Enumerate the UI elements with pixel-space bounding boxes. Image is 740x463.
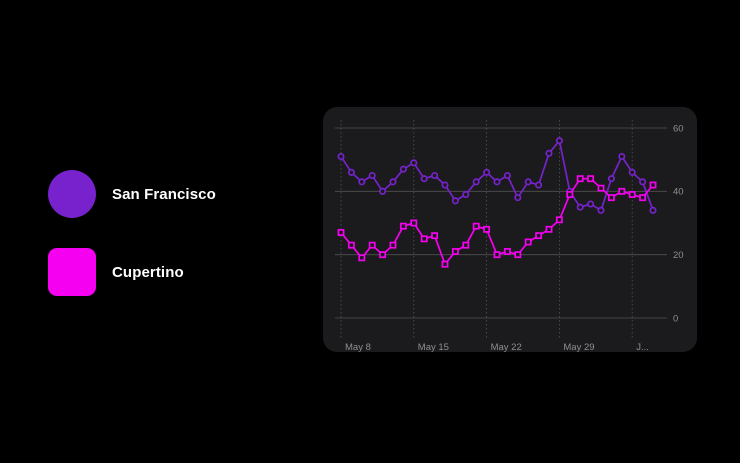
data-point[interactable] [546, 151, 551, 156]
x-axis-tick-label: May 15 [418, 342, 449, 352]
data-point[interactable] [442, 182, 447, 187]
x-axis-tick-label: J... [636, 342, 649, 352]
data-point[interactable] [432, 233, 437, 238]
data-point[interactable] [619, 189, 624, 194]
data-point[interactable] [453, 249, 458, 254]
data-point[interactable] [505, 173, 510, 178]
data-point[interactable] [432, 173, 437, 178]
data-point[interactable] [370, 243, 375, 248]
data-point[interactable] [422, 176, 427, 181]
horizontal-gridlines [335, 128, 667, 318]
series-layer [338, 138, 655, 267]
data-point[interactable] [557, 138, 562, 143]
chart-legend: San Francisco Cupertino [48, 168, 288, 324]
data-point[interactable] [370, 173, 375, 178]
data-point[interactable] [338, 230, 343, 235]
line-chart[interactable]: 0204060 May 8May 15May 22May 29J... [323, 107, 697, 352]
data-point[interactable] [567, 192, 572, 197]
data-point[interactable] [557, 217, 562, 222]
legend-item-san-francisco[interactable]: San Francisco [48, 168, 288, 220]
data-point[interactable] [422, 236, 427, 241]
y-axis-tick-label: 20 [673, 250, 684, 261]
legend-swatch-cupertino-square-icon [48, 248, 96, 296]
data-point[interactable] [546, 227, 551, 232]
screen-root: San Francisco Cupertino 0204060 May 8May… [0, 0, 740, 463]
data-point[interactable] [526, 239, 531, 244]
data-point[interactable] [411, 220, 416, 225]
chart-card[interactable]: 0204060 May 8May 15May 22May 29J... [323, 107, 697, 352]
data-point[interactable] [609, 195, 614, 200]
data-point[interactable] [463, 243, 468, 248]
x-axis-tick-label: May 29 [563, 342, 594, 352]
data-point[interactable] [494, 179, 499, 184]
data-point[interactable] [505, 249, 510, 254]
data-point[interactable] [578, 176, 583, 181]
data-point[interactable] [494, 252, 499, 257]
legend-swatch-san-francisco-circle-icon [48, 170, 96, 218]
data-point[interactable] [650, 208, 655, 213]
x-axis-labels: May 8May 15May 22May 29J... [345, 342, 649, 352]
data-point[interactable] [474, 224, 479, 229]
data-point[interactable] [650, 182, 655, 187]
data-point[interactable] [640, 195, 645, 200]
data-point[interactable] [390, 243, 395, 248]
data-point[interactable] [474, 179, 479, 184]
y-axis-labels: 0204060 [673, 123, 684, 324]
data-point[interactable] [609, 176, 614, 181]
data-point[interactable] [630, 170, 635, 175]
data-point[interactable] [588, 201, 593, 206]
data-point[interactable] [484, 170, 489, 175]
data-point[interactable] [380, 189, 385, 194]
data-point[interactable] [526, 179, 531, 184]
data-point[interactable] [359, 255, 364, 260]
x-axis-tick-label: May 8 [345, 342, 371, 352]
legend-label-cupertino: Cupertino [112, 264, 184, 281]
y-axis-tick-label: 40 [673, 187, 684, 198]
x-axis-tick-label: May 22 [491, 342, 522, 352]
legend-label-san-francisco: San Francisco [112, 186, 216, 203]
data-point[interactable] [536, 233, 541, 238]
data-point[interactable] [640, 179, 645, 184]
y-axis-tick-label: 0 [673, 313, 678, 324]
series-line [341, 141, 653, 211]
data-point[interactable] [588, 176, 593, 181]
data-point[interactable] [536, 182, 541, 187]
data-point[interactable] [484, 227, 489, 232]
data-point[interactable] [401, 224, 406, 229]
data-point[interactable] [442, 262, 447, 267]
data-point[interactable] [598, 186, 603, 191]
data-point[interactable] [338, 154, 343, 159]
y-axis-tick-label: 60 [673, 123, 684, 134]
data-point[interactable] [349, 170, 354, 175]
data-point[interactable] [515, 252, 520, 257]
legend-item-cupertino[interactable]: Cupertino [48, 246, 288, 298]
data-point[interactable] [349, 243, 354, 248]
data-point[interactable] [578, 204, 583, 209]
data-point[interactable] [401, 166, 406, 171]
data-point[interactable] [411, 160, 416, 165]
data-point[interactable] [380, 252, 385, 257]
data-point[interactable] [619, 154, 624, 159]
data-point[interactable] [463, 192, 468, 197]
data-point[interactable] [598, 208, 603, 213]
series-san-francisco [338, 138, 655, 213]
data-point[interactable] [453, 198, 458, 203]
data-point[interactable] [359, 179, 364, 184]
data-point[interactable] [515, 195, 520, 200]
data-point[interactable] [390, 179, 395, 184]
data-point[interactable] [630, 192, 635, 197]
